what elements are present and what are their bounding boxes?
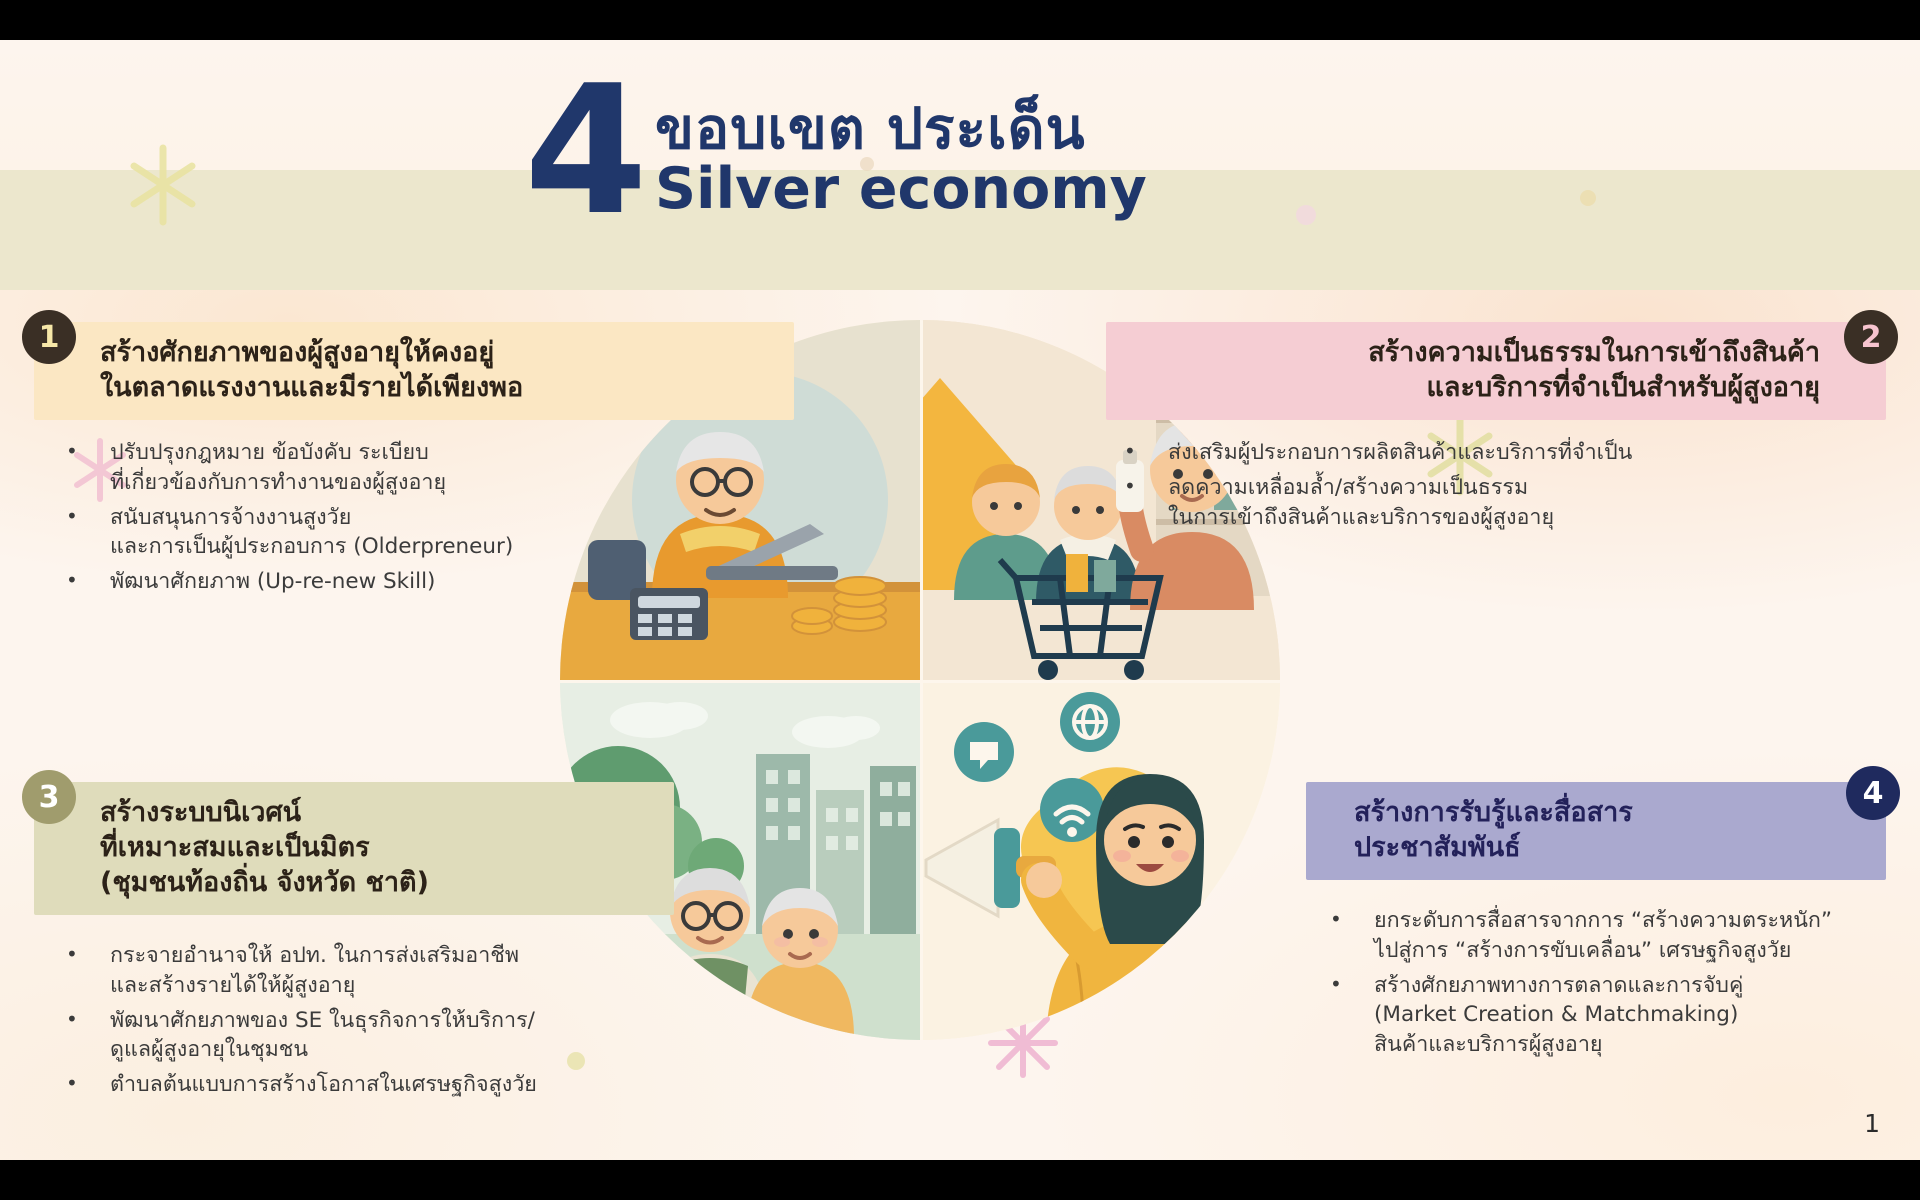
page-title: ขอบเขต ประเด็น Silver economy [655, 100, 1147, 218]
bullet-dot-icon: • [1312, 906, 1374, 965]
list-item: • ลดความเหลื่อมล้ำ/สร้างความเป็นธรรม ในก… [1106, 473, 1878, 532]
bullet-dot-icon: • [48, 503, 110, 562]
list-item: • กระจายอำนาจให้ อปท. ในการส่งเสริมอาชีพ… [48, 941, 674, 1000]
list-item: • ปรับปรุงกฎหมาย ข้อบังคับ ระเบียบ ที่เก… [48, 438, 794, 497]
section-2-header: 2 สร้างความเป็นธรรมในการเข้าถึงสินค้า แล… [1106, 322, 1886, 420]
bullet-line: ปรับปรุงกฎหมาย ข้อบังคับ ระเบียบ [110, 438, 794, 468]
section-3-heading-line-1: สร้างระบบนิเวศน์ [100, 795, 648, 830]
section-1: 1 สร้างศักยภาพของผู้สูงอายุให้คงอยู่ ในต… [34, 322, 794, 601]
illustration-divider-horizontal [560, 680, 1280, 683]
section-3-header: 3 สร้างระบบนิเวศน์ ที่เหมาะสมและเป็นมิตร… [34, 782, 674, 915]
badge-4-number: 4 [1863, 774, 1884, 813]
list-item: • ส่งเสริมผู้ประกอบการผลิตสินค้าและบริกา… [1106, 438, 1878, 468]
badge-1-number: 1 [39, 318, 60, 357]
section-3-heading-line-2: ที่เหมาะสมและเป็นมิตร [100, 830, 648, 865]
badge-3: 3 [22, 770, 76, 824]
bullet-line: และการเป็นผู้ประกอบการ (Olderpreneur) [110, 532, 794, 562]
bullet-text: สนับสนุนการจ้างงานสูงวัย และการเป็นผู้ปร… [110, 503, 794, 562]
bullet-line: พัฒนาศักยภาพ (Up-re-new Skill) [110, 567, 794, 597]
badge-2-number: 2 [1861, 318, 1882, 357]
bullet-line: ไปสู่การ “สร้างการขับเคลื่อน” เศรษฐกิจสู… [1374, 936, 1886, 966]
bullet-text: ส่งเสริมผู้ประกอบการผลิตสินค้าและบริการท… [1168, 438, 1878, 468]
slide-header: 4 ขอบเขต ประเด็น Silver economy [0, 62, 1920, 252]
section-3-heading-line-3: (ชุมชนท้องถิ่น จังหวัด ชาติ) [100, 865, 648, 900]
section-2-heading-line-2: และบริการที่จำเป็นสำหรับผู้สูงอายุ [1132, 370, 1820, 405]
page-number: 1 [1864, 1109, 1880, 1138]
section-1-heading-line-2: ในตลาดแรงงานและมีรายได้เพียงพอ [100, 370, 768, 405]
list-item: • ยกระดับการสื่อสารจากการ “สร้างความตระห… [1312, 906, 1886, 965]
bullet-line: กระจายอำนาจให้ อปท. ในการส่งเสริมอาชีพ [110, 941, 674, 971]
bullet-text: สร้างศักยภาพทางการตลาดและการจับคู่ (Mark… [1374, 971, 1886, 1060]
bullet-dot-icon: • [1312, 971, 1374, 1060]
bullet-line: และสร้างรายได้ให้ผู้สูงอายุ [110, 971, 674, 1001]
badge-2: 2 [1844, 310, 1898, 364]
section-4-heading-line-1: สร้างการรับรู้และสื่อสาร [1354, 795, 1860, 830]
bullet-dot-icon: • [48, 567, 110, 597]
section-3: 3 สร้างระบบนิเวศน์ ที่เหมาะสมและเป็นมิตร… [34, 782, 674, 1105]
bullet-text: กระจายอำนาจให้ อปท. ในการส่งเสริมอาชีพ แ… [110, 941, 674, 1000]
title-thai: ขอบเขต ประเด็น [655, 100, 1147, 158]
section-1-bullet-list: • ปรับปรุงกฎหมาย ข้อบังคับ ระเบียบ ที่เก… [34, 438, 794, 596]
badge-4: 4 [1846, 766, 1900, 820]
title-big-number: 4 [524, 82, 638, 221]
section-1-heading-line-1: สร้างศักยภาพของผู้สูงอายุให้คงอยู่ [100, 335, 768, 370]
bullet-line: พัฒนาศักยภาพของ SE ในธุรกิจการให้บริการ/ [110, 1006, 674, 1036]
section-1-header: 1 สร้างศักยภาพของผู้สูงอายุให้คงอยู่ ในต… [34, 322, 794, 420]
section-2-heading-line-1: สร้างความเป็นธรรมในการเข้าถึงสินค้า [1132, 335, 1820, 370]
section-3-bullet-list: • กระจายอำนาจให้ อปท. ในการส่งเสริมอาชีพ… [34, 941, 674, 1099]
bullet-line: สร้างศักยภาพทางการตลาดและการจับคู่ [1374, 971, 1886, 1001]
bullet-line: (Market Creation & Matchmaking) [1374, 1000, 1886, 1030]
bullet-text: พัฒนาศักยภาพ (Up-re-new Skill) [110, 567, 794, 597]
section-2-bullet-list: • ส่งเสริมผู้ประกอบการผลิตสินค้าและบริกา… [1106, 438, 1886, 532]
woman-megaphone-icon [920, 680, 1280, 1040]
bullet-text: ยกระดับการสื่อสารจากการ “สร้างความตระหนั… [1374, 906, 1886, 965]
section-4: 4 สร้างการรับรู้และสื่อสาร ประชาสัมพันธ์… [1306, 782, 1886, 1064]
badge-3-number: 3 [39, 778, 60, 817]
bullet-line: สนับสนุนการจ้างงานสูงวัย [110, 503, 794, 533]
list-item: • สร้างศักยภาพทางการตลาดและการจับคู่ (Ma… [1312, 971, 1886, 1060]
bullet-text: ตำบลต้นแบบการสร้างโอกาสในเศรษฐกิจสูงวัย [110, 1070, 674, 1100]
section-4-bullet-list: • ยกระดับการสื่อสารจากการ “สร้างความตระห… [1306, 906, 1886, 1059]
title-english: Silver economy [655, 160, 1147, 218]
list-item: • พัฒนาศักยภาพ (Up-re-new Skill) [48, 567, 794, 597]
bullet-line: ดูแลผู้สูงอายุในชุมชน [110, 1035, 674, 1065]
list-item: • สนับสนุนการจ้างงานสูงวัย และการเป็นผู้… [48, 503, 794, 562]
bullet-line: ในการเข้าถึงสินค้าและบริการของผู้สูงอายุ [1168, 503, 1878, 533]
badge-1: 1 [22, 310, 76, 364]
bullet-dot-icon: • [48, 941, 110, 1000]
bullet-dot-icon: • [1106, 473, 1168, 532]
section-4-header: 4 สร้างการรับรู้และสื่อสาร ประชาสัมพันธ์ [1306, 782, 1886, 880]
list-item: • พัฒนาศักยภาพของ SE ในธุรกิจการให้บริกา… [48, 1006, 674, 1065]
bullet-line: ส่งเสริมผู้ประกอบการผลิตสินค้าและบริการท… [1168, 438, 1878, 468]
bullet-dot-icon: • [48, 1070, 110, 1100]
bullet-text: พัฒนาศักยภาพของ SE ในธุรกิจการให้บริการ/… [110, 1006, 674, 1065]
bullet-line: ลดความเหลื่อมล้ำ/สร้างความเป็นธรรม [1168, 473, 1878, 503]
bullet-line: ยกระดับการสื่อสารจากการ “สร้างความตระหนั… [1374, 906, 1886, 936]
bullet-dot-icon: • [48, 438, 110, 497]
bullet-text: ปรับปรุงกฎหมาย ข้อบังคับ ระเบียบ ที่เกี่… [110, 438, 794, 497]
section-2: 2 สร้างความเป็นธรรมในการเข้าถึงสินค้า แล… [1106, 322, 1886, 537]
slide-canvas: 4 ขอบเขต ประเด็น Silver economy [0, 40, 1920, 1160]
bullet-dot-icon: • [1106, 438, 1168, 468]
bullet-line: สินค้าและบริการผู้สูงอายุ [1374, 1030, 1886, 1060]
bullet-text: ลดความเหลื่อมล้ำ/สร้างความเป็นธรรม ในการ… [1168, 473, 1878, 532]
bullet-dot-icon: • [48, 1006, 110, 1065]
bullet-line: ที่เกี่ยวข้องกับการทำงานของผู้สูงอายุ [110, 468, 794, 498]
bullet-line: ตำบลต้นแบบการสร้างโอกาสในเศรษฐกิจสูงวัย [110, 1070, 674, 1100]
list-item: • ตำบลต้นแบบการสร้างโอกาสในเศรษฐกิจสูงวั… [48, 1070, 674, 1100]
section-4-heading-line-2: ประชาสัมพันธ์ [1354, 830, 1860, 865]
